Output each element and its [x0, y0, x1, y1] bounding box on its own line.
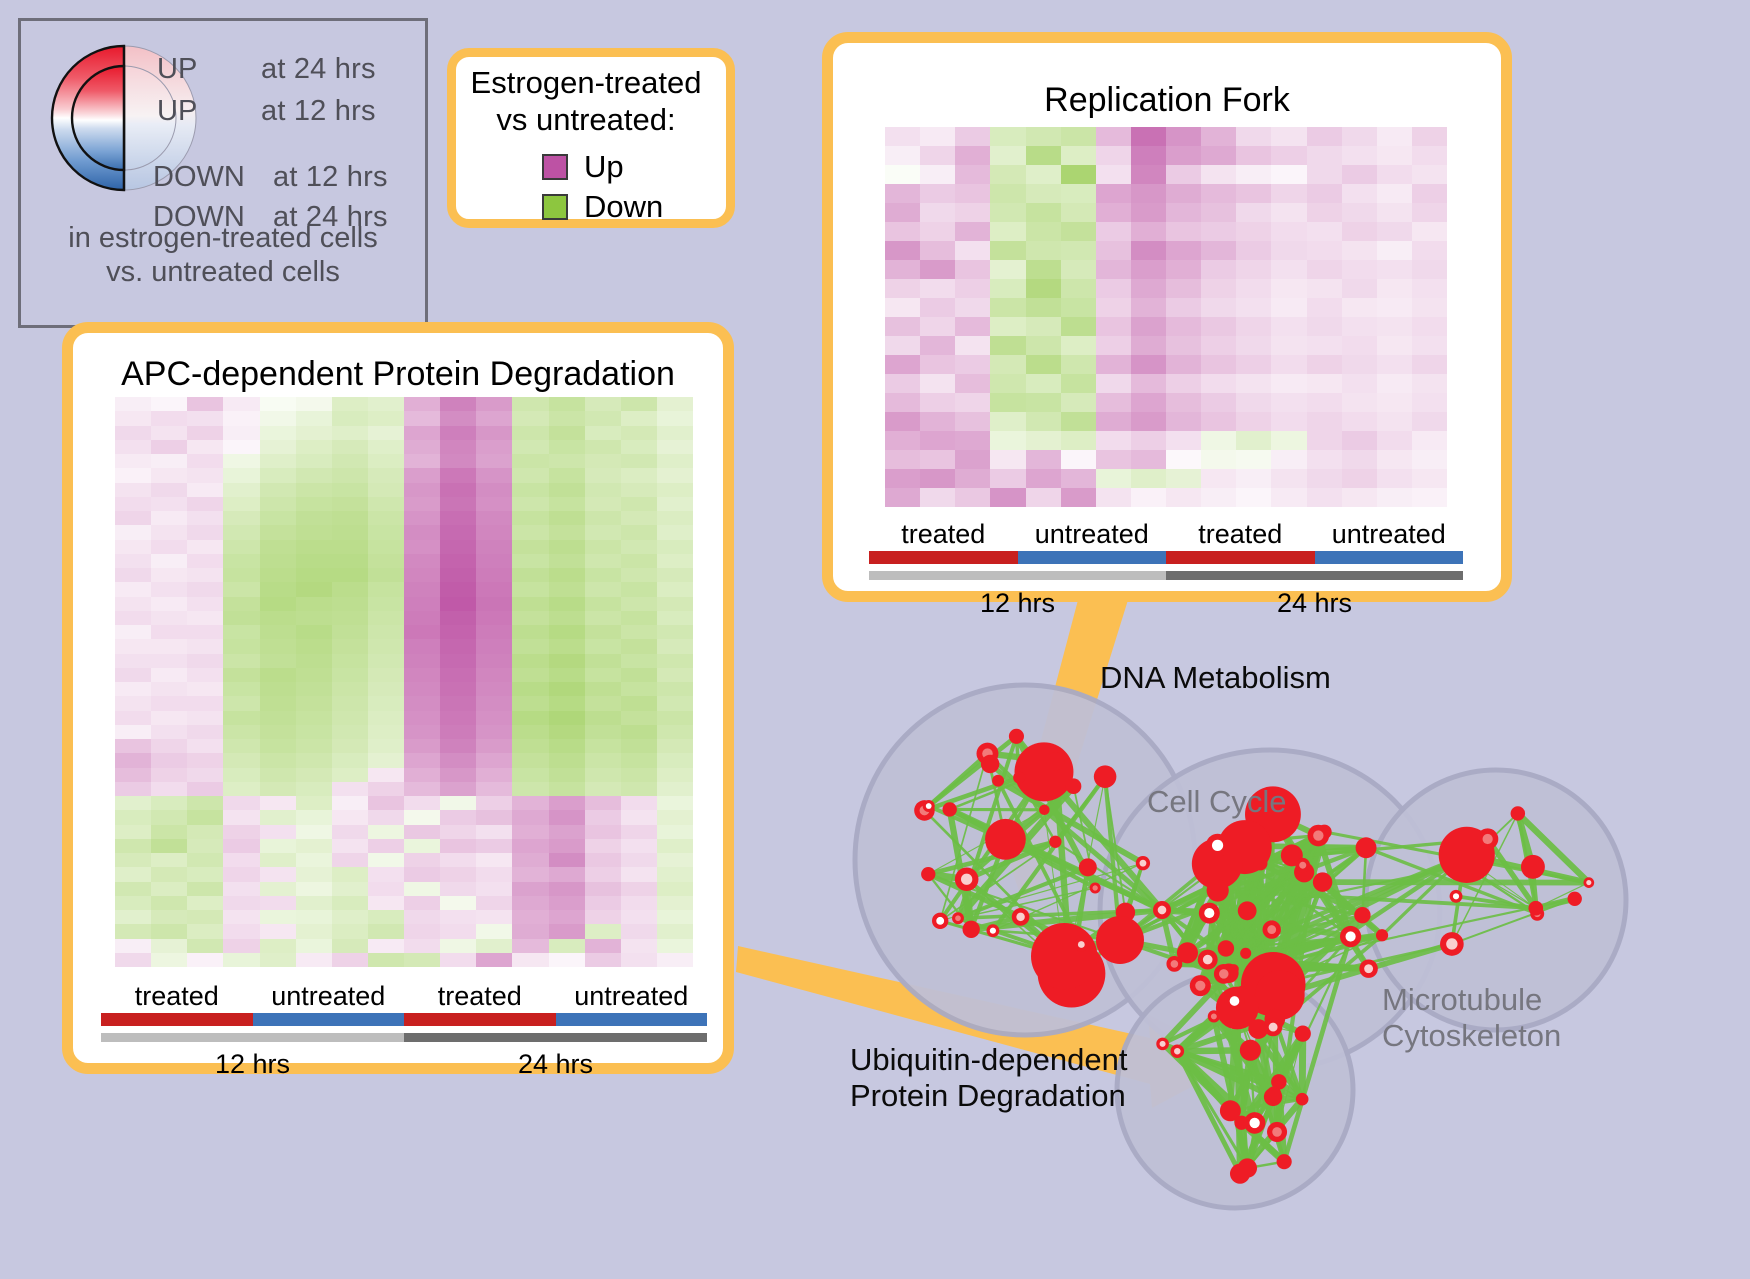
- heatmap-cell: [404, 454, 440, 468]
- heatmap-cell: [1377, 412, 1412, 431]
- heatmap-cell: [187, 910, 223, 924]
- heatmap-cell: [1412, 241, 1447, 260]
- heatmap-cell: [549, 554, 585, 568]
- heatmap-cell: [512, 711, 548, 725]
- heatmap-cell: [187, 611, 223, 625]
- key-label-up: Up: [584, 151, 624, 182]
- heatmap-cell: [115, 468, 151, 482]
- heatmap-cell: [1377, 222, 1412, 241]
- network-node-core: [1446, 938, 1457, 949]
- heatmap-cell: [1096, 431, 1131, 450]
- heatmap-cell: [657, 782, 693, 796]
- heatmap-cell: [1026, 165, 1061, 184]
- cluster-label-cell-cycle: Cell Cycle: [1147, 784, 1287, 820]
- heatmap-cell: [296, 525, 332, 539]
- heatmap-cell: [1201, 165, 1236, 184]
- heatmap-cell: [223, 497, 259, 511]
- heatmap-cell: [621, 953, 657, 967]
- heatmap-cell: [549, 411, 585, 425]
- heatmap-cell: [223, 668, 259, 682]
- heatmap-cell: [151, 397, 187, 411]
- heatmap-cell: [585, 668, 621, 682]
- heatmap-cell: [1166, 203, 1201, 222]
- heatmap-cell: [1236, 393, 1271, 412]
- heatmap-cell: [920, 355, 955, 374]
- heatmap-cell: [1131, 412, 1166, 431]
- heatmap-cell: [404, 782, 440, 796]
- network-node-core: [1174, 1048, 1181, 1055]
- heatmap-cell: [1307, 488, 1342, 507]
- heatmap-cell: [115, 497, 151, 511]
- heatmap-cell: [1166, 488, 1201, 507]
- down-swatch-icon: [542, 194, 568, 220]
- network-node-core: [961, 874, 972, 885]
- heatmap-cell: [621, 397, 657, 411]
- heatmap-cell: [657, 839, 693, 853]
- heatmap-cell: [332, 611, 368, 625]
- heatmap-cell: [476, 540, 512, 554]
- network-node-core: [1230, 996, 1240, 1006]
- heatmap-cell: [1271, 336, 1306, 355]
- heatmap-cell: [440, 910, 476, 924]
- heatmap-cell: [549, 696, 585, 710]
- heatmap-cell: [476, 696, 512, 710]
- heatmap-cell: [1412, 127, 1447, 146]
- heatmap-cell: [260, 839, 296, 853]
- heatmap-cell: [1201, 393, 1236, 412]
- heatmap-cell: [549, 668, 585, 682]
- heatmap-cell: [187, 939, 223, 953]
- heatmap-cell: [1307, 412, 1342, 431]
- heatmap-cell: [549, 525, 585, 539]
- heatmap-cell: [1061, 450, 1096, 469]
- heatmap-cell: [440, 882, 476, 896]
- heatmap-cell: [368, 896, 404, 910]
- time-label-24: 24 hrs: [404, 1049, 707, 1080]
- key-row-down: Down: [542, 191, 663, 222]
- heatmap-cell: [296, 468, 332, 482]
- heatmap-cell: [115, 782, 151, 796]
- group-bar-segment: [1166, 551, 1315, 564]
- heatmap-cell: [621, 440, 657, 454]
- network-node: [1015, 742, 1074, 801]
- heatmap-cell: [585, 711, 621, 725]
- heatmap-cell: [1377, 393, 1412, 412]
- heatmap-cell: [1342, 146, 1377, 165]
- heatmap-cell: [1307, 146, 1342, 165]
- heatmap-cell: [1271, 374, 1306, 393]
- heatmap-cell: [187, 582, 223, 596]
- heatmap-cell: [1166, 165, 1201, 184]
- heatmap-cell: [476, 953, 512, 967]
- heatmap-cell: [476, 796, 512, 810]
- group-bar-segment: [556, 1013, 708, 1026]
- heatmap-cell: [260, 953, 296, 967]
- key-title: Estrogen-treated vs untreated:: [456, 65, 716, 138]
- group-bar-segment: [404, 1013, 556, 1026]
- heatmap-cell: [332, 468, 368, 482]
- heatmap-cell: [115, 611, 151, 625]
- network-node: [1218, 940, 1234, 956]
- heatmap-cell: [476, 882, 512, 896]
- heatmap-cell: [440, 597, 476, 611]
- heatmap-cell: [187, 540, 223, 554]
- heatmap-cell: [296, 896, 332, 910]
- heatmap-replication-fork: [885, 127, 1447, 507]
- heatmap-cell: [512, 768, 548, 782]
- heatmap-cell: [512, 611, 548, 625]
- heatmap-cell: [440, 825, 476, 839]
- heatmap-cell: [1166, 336, 1201, 355]
- heatmap-cell: [404, 440, 440, 454]
- heatmap-cell: [1342, 450, 1377, 469]
- heatmap-cell: [404, 397, 440, 411]
- heatmap-cell: [476, 554, 512, 568]
- heatmap-cell: [368, 739, 404, 753]
- heatmap-cell: [621, 497, 657, 511]
- heatmap-cell: [1061, 146, 1096, 165]
- heatmap-cell: [1236, 203, 1271, 222]
- heatmap-cell: [260, 654, 296, 668]
- network-node-core: [1483, 834, 1493, 844]
- heatmap-cell: [955, 488, 990, 507]
- heatmap-cell: [1377, 203, 1412, 222]
- heatmap-cell: [260, 511, 296, 525]
- heatmap-cell: [368, 411, 404, 425]
- heatmap-cell: [1377, 298, 1412, 317]
- heatmap-cell: [151, 597, 187, 611]
- heatmap-cell: [920, 393, 955, 412]
- heatmap-cell: [549, 711, 585, 725]
- heatmap-cell: [332, 924, 368, 938]
- heatmap-cell: [404, 483, 440, 497]
- heatmap-cell: [885, 203, 920, 222]
- heatmap-cell: [404, 711, 440, 725]
- heatmap-cell: [657, 725, 693, 739]
- network-node: [1046, 752, 1064, 770]
- time-bar-segment: [869, 571, 1166, 580]
- heatmap-cell: [368, 768, 404, 782]
- network-node: [1079, 858, 1097, 876]
- heatmap-cell: [549, 682, 585, 696]
- heatmap-cell: [296, 639, 332, 653]
- heatmap-cell: [223, 483, 259, 497]
- heatmap-cell: [955, 469, 990, 488]
- heatmap-cell: [549, 896, 585, 910]
- apc-time-labels: 12 hrs 24 hrs: [101, 1049, 707, 1080]
- heatmap-cell: [476, 867, 512, 881]
- heatmap-cell: [223, 939, 259, 953]
- heatmap-cell: [296, 696, 332, 710]
- heatmap-cell: [404, 696, 440, 710]
- heatmap-cell: [1236, 469, 1271, 488]
- heatmap-cell: [187, 796, 223, 810]
- heatmap-cell: [476, 910, 512, 924]
- heatmap-cell: [1307, 203, 1342, 222]
- heatmap-cell: [115, 753, 151, 767]
- heatmap-cell: [1026, 279, 1061, 298]
- network-node-core: [1093, 885, 1098, 890]
- heatmap-cell: [1412, 431, 1447, 450]
- heatmap-cell: [657, 853, 693, 867]
- heatmap-cell: [187, 497, 223, 511]
- heatmap-cell: [115, 910, 151, 924]
- heatmap-cell: [549, 768, 585, 782]
- heatmap-cell: [1377, 317, 1412, 336]
- heatmap-cell: [549, 839, 585, 853]
- heatmap-cell: [332, 867, 368, 881]
- heatmap-cell: [990, 260, 1025, 279]
- heatmap-cell: [440, 511, 476, 525]
- heatmap-cell: [115, 739, 151, 753]
- heatmap-cell: [440, 668, 476, 682]
- network-node-core: [1078, 941, 1085, 948]
- heatmap-cell: [115, 768, 151, 782]
- heatmap-cell: [1166, 412, 1201, 431]
- heatmap-cell: [955, 260, 990, 279]
- heatmap-cell: [296, 853, 332, 867]
- heatmap-cell: [151, 625, 187, 639]
- heatmap-cell: [1096, 336, 1131, 355]
- heatmap-cell: [476, 397, 512, 411]
- heatmap-cell: [440, 896, 476, 910]
- heatmap-cell: [332, 725, 368, 739]
- heatmap-cell: [332, 483, 368, 497]
- heatmap-cell: [440, 810, 476, 824]
- heatmap-cell: [657, 910, 693, 924]
- heatmap-cell: [1201, 241, 1236, 260]
- heatmap-cell: [1096, 165, 1131, 184]
- heatmap-cell: [549, 611, 585, 625]
- heatmap-cell: [223, 782, 259, 796]
- heatmap-cell: [512, 483, 548, 497]
- heatmap-cell: [657, 483, 693, 497]
- heatmap-cell: [885, 355, 920, 374]
- heatmap-cell: [1026, 241, 1061, 260]
- heatmap-cell: [621, 483, 657, 497]
- heatmap-cell: [1026, 203, 1061, 222]
- heatmap-cell: [1026, 260, 1061, 279]
- heatmap-cell: [1131, 317, 1166, 336]
- heatmap-cell: [260, 639, 296, 653]
- heatmap-cell: [1096, 393, 1131, 412]
- heatmap-cell: [549, 825, 585, 839]
- heatmap-cell: [1201, 222, 1236, 241]
- network-node-core: [1203, 955, 1213, 965]
- heatmap-cell: [332, 810, 368, 824]
- heatmap-cell: [1026, 488, 1061, 507]
- network-node-core: [1195, 981, 1205, 991]
- heatmap-cell: [512, 654, 548, 668]
- heatmap-cell: [332, 654, 368, 668]
- heatmap-cell: [1342, 279, 1377, 298]
- heatmap-cell: [115, 796, 151, 810]
- heatmap-cell: [151, 497, 187, 511]
- network-node: [1376, 929, 1388, 941]
- heatmap-cell: [621, 810, 657, 824]
- heatmap-cell: [368, 582, 404, 596]
- heatmap-cell: [549, 625, 585, 639]
- heatmap-cell: [296, 939, 332, 953]
- heatmap-cell: [187, 739, 223, 753]
- heatmap-cell: [990, 222, 1025, 241]
- heatmap-cell: [151, 711, 187, 725]
- heatmap-cell: [260, 796, 296, 810]
- heatmap-cell: [657, 696, 693, 710]
- heatmap-cell: [332, 597, 368, 611]
- heatmap-cell: [404, 554, 440, 568]
- heatmap-cell: [151, 440, 187, 454]
- heatmap-cell: [621, 568, 657, 582]
- heatmap-cell: [332, 768, 368, 782]
- heatmap-cell: [549, 753, 585, 767]
- heatmap-cell: [1131, 469, 1166, 488]
- heatmap-cell: [368, 682, 404, 696]
- heatmap-cell: [151, 511, 187, 525]
- heatmap-cell: [1131, 450, 1166, 469]
- heatmap-cell: [1377, 146, 1412, 165]
- heatmap-cell: [920, 298, 955, 317]
- network-node: [1240, 948, 1251, 959]
- heatmap-cell: [1061, 127, 1096, 146]
- heatmap-cell: [476, 525, 512, 539]
- heatmap-cell: [223, 440, 259, 454]
- heatmap-cell: [187, 397, 223, 411]
- heatmap-cell: [187, 554, 223, 568]
- heatmap-cell: [1061, 393, 1096, 412]
- heatmap-cell: [440, 696, 476, 710]
- heatmap-cell: [1271, 203, 1306, 222]
- heatmap-cell: [223, 768, 259, 782]
- heatmap-cell: [1342, 393, 1377, 412]
- heatmap-cell: [512, 853, 548, 867]
- group-bar-segment: [1315, 551, 1464, 564]
- network-node: [1511, 806, 1525, 820]
- heatmap-cell: [512, 753, 548, 767]
- group-label-2: treated: [1166, 519, 1315, 550]
- heatmap-cell: [1307, 355, 1342, 374]
- heatmap-cell: [990, 146, 1025, 165]
- heatmap-cell: [476, 411, 512, 425]
- heatmap-cell: [151, 554, 187, 568]
- heatmap-cell: [332, 668, 368, 682]
- network-node-core: [955, 915, 961, 921]
- heatmap-cell: [955, 222, 990, 241]
- heatmap-cell: [476, 896, 512, 910]
- panel-apc-degradation: APC-dependent Protein Degradation treate…: [62, 322, 734, 1074]
- heatmap-cell: [368, 625, 404, 639]
- heatmap-cell: [476, 711, 512, 725]
- heatmap-cell: [223, 426, 259, 440]
- heatmap-cell: [151, 454, 187, 468]
- heatmap-cell: [440, 939, 476, 953]
- heatmap-cell: [1061, 279, 1096, 298]
- heatmap-cell: [621, 696, 657, 710]
- heatmap-cell: [1271, 165, 1306, 184]
- heatmap-cell: [1412, 298, 1447, 317]
- heatmap-cell: [621, 924, 657, 938]
- heatmap-cell: [476, 782, 512, 796]
- heatmap-cell: [223, 582, 259, 596]
- heatmap-cell: [549, 654, 585, 668]
- heatmap-cell: [1026, 222, 1061, 241]
- heatmap-cell: [115, 867, 151, 881]
- heatmap-cell: [223, 625, 259, 639]
- heatmap-cell: [621, 682, 657, 696]
- heatmap-cell: [1131, 336, 1166, 355]
- heatmap-cell: [151, 810, 187, 824]
- heatmap-cell: [549, 782, 585, 796]
- heatmap-cell: [1061, 222, 1096, 241]
- heatmap-cell: [440, 483, 476, 497]
- heatmap-cell: [1307, 336, 1342, 355]
- heatmap-cell: [404, 953, 440, 967]
- heatmap-cell: [151, 483, 187, 497]
- heatmap-cell: [260, 867, 296, 881]
- heatmap-cell: [1061, 469, 1096, 488]
- heatmap-cell: [296, 440, 332, 454]
- network-node: [1240, 1040, 1261, 1061]
- heatmap-cell: [955, 203, 990, 222]
- heatmap-cell: [657, 611, 693, 625]
- heatmap-cell: [549, 739, 585, 753]
- heatmap-cell: [223, 682, 259, 696]
- network-node: [1568, 892, 1582, 906]
- heatmap-cell: [621, 882, 657, 896]
- heatmap-cell: [476, 853, 512, 867]
- heatmap-cell: [657, 768, 693, 782]
- heatmap-cell: [1061, 488, 1096, 507]
- heatmap-cell: [585, 611, 621, 625]
- heatmap-cell: [990, 317, 1025, 336]
- heatmap-cell: [549, 639, 585, 653]
- heatmap-cell: [404, 426, 440, 440]
- heatmap-cell: [1026, 412, 1061, 431]
- heatmap-cell: [657, 711, 693, 725]
- heatmap-cell: [332, 782, 368, 796]
- heatmap-cell: [1342, 165, 1377, 184]
- heatmap-cell: [1377, 355, 1412, 374]
- heatmap-cell: [404, 910, 440, 924]
- legend-time-up-12: at 12 hrs: [261, 95, 376, 128]
- cluster-label-ubiquitin: Ubiquitin-dependent Protein Degradation: [850, 1042, 1128, 1114]
- heatmap-cell: [151, 782, 187, 796]
- heatmap-cell: [1201, 355, 1236, 374]
- heatmap-cell: [512, 939, 548, 953]
- heatmap-cell: [440, 839, 476, 853]
- heatmap-cell: [187, 411, 223, 425]
- heatmap-cell: [187, 568, 223, 582]
- heatmap-cell: [1166, 127, 1201, 146]
- heatmap-cell: [368, 554, 404, 568]
- heatmap-cell: [260, 696, 296, 710]
- heatmap-cell: [990, 336, 1025, 355]
- heatmap-cell: [260, 468, 296, 482]
- heatmap-cell: [920, 450, 955, 469]
- heatmap-cell: [476, 483, 512, 497]
- heatmap-cell: [151, 839, 187, 853]
- heatmap-cell: [512, 696, 548, 710]
- key-row-up: Up: [542, 151, 624, 182]
- heatmap-cell: [260, 924, 296, 938]
- network-graph: [790, 610, 1750, 1279]
- heatmap-cell: [332, 639, 368, 653]
- heatmap-cell: [440, 397, 476, 411]
- heatmap-cell: [585, 810, 621, 824]
- heatmap-cell: [1131, 203, 1166, 222]
- heatmap-cell: [368, 540, 404, 554]
- heatmap-cell: [1096, 355, 1131, 374]
